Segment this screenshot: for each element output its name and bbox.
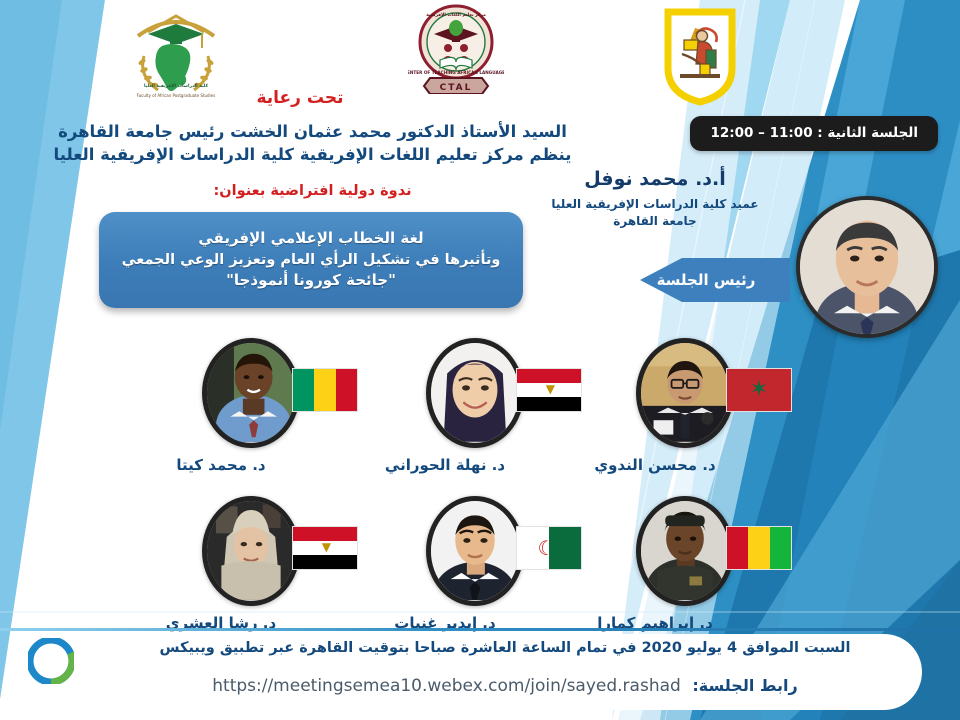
header-line-2: ينظم مركز تعليم اللغات الإفريقية كلية ال… [0, 145, 625, 166]
chairman-role-label: رئيس الجلسة [640, 258, 790, 302]
footer-link-label: رابط الجلسة: [692, 676, 797, 695]
cairo-university-logo-graphic [662, 6, 738, 106]
pentagram-icon: ✶ [750, 379, 768, 401]
speaker-card: ✶ د. محسن الندوي [540, 338, 770, 498]
bottom-divider [0, 628, 960, 631]
seminar-poster: كلية الدراسات الإفريقية العليا Faculty o… [0, 0, 960, 720]
speaker-card: ▼ د. نهلة الحوراني [330, 338, 560, 498]
chairman-affiliation-line-1: عميد كلية الدراسات الإفريقية العليا [530, 196, 780, 213]
speaker-name: د. محمد كيتا [106, 456, 336, 474]
chairman-role-arrow: رئيس الجلسة [640, 258, 790, 302]
speaker-portrait [426, 338, 524, 448]
seminar-title-line-2: وتأثيرها في تشكيل الرأي العام وتعزيز الو… [122, 250, 501, 271]
svg-text:مركز تعليم اللغات الإفريقية: مركز تعليم اللغات الإفريقية [426, 12, 486, 18]
speaker-portrait [202, 496, 300, 606]
chairman-portrait-image [800, 200, 934, 334]
chairman-affiliation-line-2: جامعة القاهرة [530, 213, 780, 230]
webex-logo-icon [28, 638, 74, 684]
speaker-portrait-image [431, 343, 519, 442]
footer-datetime: السبت الموافق 4 يوليو 2020 في تمام الساع… [110, 640, 900, 656]
session-time-badge: الجلسة الثانية : 11:00 – 12:00 [690, 116, 938, 151]
speaker-portrait [426, 496, 524, 606]
chairman-photo [796, 196, 938, 338]
chairman-name: أ.د. محمد نوفل [530, 168, 780, 190]
flag-field: ✶ [727, 369, 791, 411]
speaker-card: د. محمد كيتا [106, 338, 336, 498]
speaker-card: ▼ د. رشا العشري [106, 496, 336, 656]
speaker-card: ☾ د. إيدير غنيات [330, 496, 560, 656]
speaker-name: د. نهلة الحوراني [330, 456, 560, 474]
under-patronage-label: تحت رعاية [0, 88, 600, 108]
footer-link-row: رابط الجلسة: https://meetingsemea10.webe… [110, 676, 900, 696]
chairman-affiliation: عميد كلية الدراسات الإفريقية العليا جامع… [530, 196, 780, 231]
seminar-title-line-1: لغة الخطاب الإعلامي الإفريقي [198, 228, 423, 249]
footer-link-url[interactable]: https://meetingsemea10.webex.com/join/sa… [212, 676, 681, 696]
speaker-portrait-image [207, 343, 295, 442]
webex-logo-graphic [28, 638, 74, 684]
speaker-portrait [636, 338, 734, 448]
speaker-portrait-image [641, 501, 729, 600]
cairo-university-logo [662, 6, 738, 106]
seminar-title-line-3: "جائحة كورونا أنموذجا" [226, 270, 396, 291]
speaker-name: د. محسن الندوي [540, 456, 770, 474]
morocco-flag: ✶ [726, 368, 792, 412]
header-line-1: السيد الأستاذ الدكتور محمد عثمان الخشت ر… [0, 122, 625, 143]
speaker-card: د. إبراهيم كمارا [540, 496, 770, 656]
speaker-portrait-image [207, 501, 295, 600]
seminar-title-panel: لغة الخطاب الإعلامي الإفريقي وتأثيرها في… [99, 212, 523, 308]
speaker-portrait [202, 338, 300, 448]
speaker-portrait-image [431, 501, 519, 600]
ctal-logo-graphic: مركز تعليم اللغات الإفريقية CENTER OF TE… [408, 2, 504, 94]
mali-flag [726, 526, 792, 570]
flag-stripes [727, 527, 791, 569]
ctal-logo: مركز تعليم اللغات الإفريقية CENTER OF TE… [408, 2, 504, 94]
speaker-portrait-image [641, 343, 729, 442]
svg-text:CENTER OF TEACHING AFRICAN LAN: CENTER OF TEACHING AFRICAN LANGUAGES [408, 70, 504, 75]
speaker-portrait [636, 496, 734, 606]
